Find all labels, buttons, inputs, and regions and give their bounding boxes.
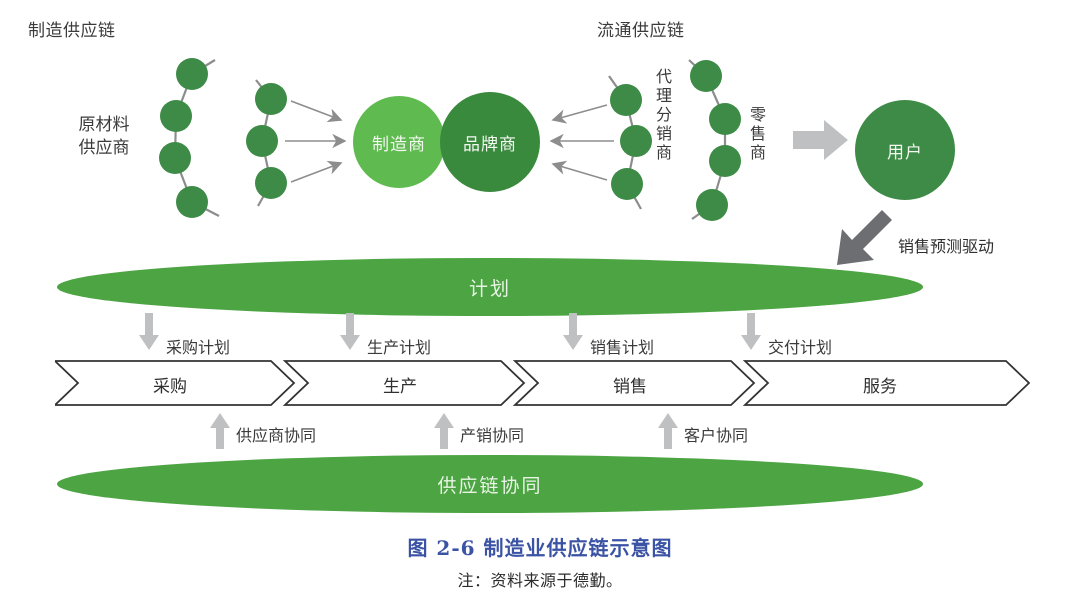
- purchase-plan-label: 采购计划: [166, 334, 230, 358]
- collab-band-label: 供应链协同: [437, 471, 542, 498]
- production-plan-arrow-icon: [340, 313, 360, 351]
- chevron-label-purchase: 采购: [85, 372, 255, 397]
- delivery-plan-label: 交付计划: [768, 334, 832, 358]
- figure-note: 注：资料来源于德勤。: [0, 567, 1080, 591]
- circle-end-user-label: 用户: [887, 138, 923, 163]
- sales-plan-label: 销售计划: [590, 334, 654, 358]
- sales-forecast-label: 销售预测驱动: [898, 233, 994, 257]
- purchase-plan-arrow-icon: [139, 313, 159, 351]
- supplier-collab-label: 供应商协同: [236, 422, 316, 446]
- figure-canvas: 制造供应链 流通供应链 原材料 供应商: [0, 0, 1080, 605]
- delivery-plan-arrow-icon: [741, 313, 761, 351]
- arrow-to-user-icon: [793, 118, 849, 162]
- plan-band-label: 计划: [469, 274, 511, 301]
- plan-band: 计划: [57, 258, 923, 316]
- production-plan-label: 生产计划: [367, 334, 431, 358]
- chevron-label-production: 生产: [315, 372, 485, 397]
- customer-collab-label: 客户协同: [684, 422, 748, 446]
- production-sales-collab-arrow-icon: [434, 413, 454, 449]
- chevron-label-sales: 销售: [545, 372, 715, 397]
- actor-label-retailer: 零售商: [748, 106, 768, 163]
- supplier-collab-arrow-icon: [210, 413, 230, 449]
- production-sales-collab-label: 产销协同: [460, 422, 524, 446]
- collab-band: 供应链协同: [57, 455, 923, 513]
- sales-plan-arrow-icon: [563, 313, 583, 351]
- chevron-label-service: 服务: [790, 372, 970, 397]
- figure-caption: 图 2-6 制造业供应链示意图: [0, 532, 1080, 561]
- customer-collab-arrow-icon: [658, 413, 678, 449]
- circle-end-user: 用户: [855, 100, 955, 200]
- sales-forecast-arrow-icon: [820, 210, 892, 272]
